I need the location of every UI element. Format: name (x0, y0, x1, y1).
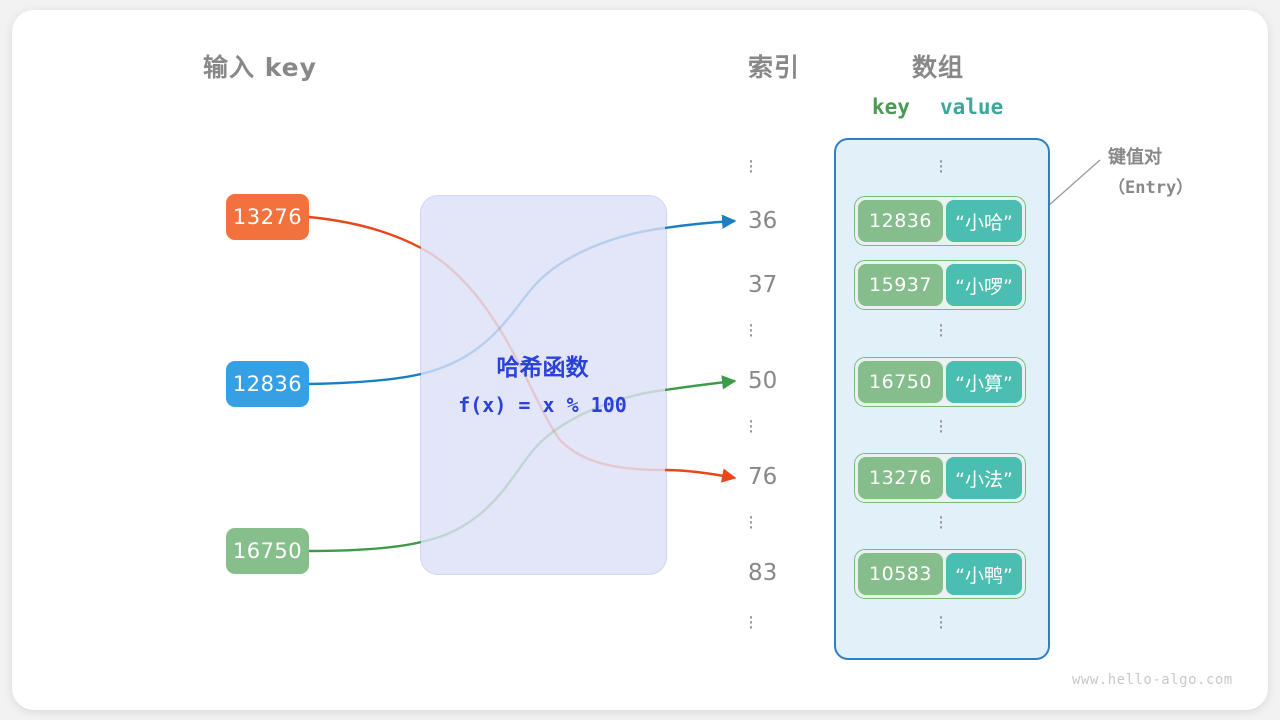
heading-input-key: 输入 key (203, 48, 317, 84)
index-label: 83 (748, 560, 808, 586)
watermark: www.hello-algo.com (1072, 672, 1233, 688)
entry-row: 15937 “小啰” (854, 260, 1026, 310)
entry-value: “小鸭” (946, 553, 1022, 595)
annotation-line-2: （Entry） (1108, 173, 1193, 203)
entry-key: 12836 (858, 200, 943, 242)
hash-function-box (420, 195, 667, 575)
entry-row: 12836 “小哈” (854, 196, 1026, 246)
index-ellipsis: ··· (748, 614, 808, 640)
input-key-chip: 16750 (226, 528, 309, 574)
entry-row: 16750 “小算” (854, 357, 1026, 407)
diagram-canvas: 输入 key 索引 数组 key value 13276 12836 16750 (0, 0, 1280, 720)
hash-function-formula: f(x) = x % 100 (420, 393, 665, 417)
array-ellipsis: ··· (934, 616, 948, 631)
array-ellipsis: ··· (934, 516, 948, 531)
annotation-line-1: 键值对 (1108, 143, 1193, 173)
entry-key: 10583 (858, 553, 943, 595)
entry-value: “小啰” (946, 264, 1022, 306)
entry-key: 13276 (858, 457, 943, 499)
entry-key: 16750 (858, 361, 943, 403)
entry-value: “小法” (946, 457, 1022, 499)
index-label: 50 (748, 368, 808, 394)
index-label: 36 (748, 208, 808, 234)
array-ellipsis: ··· (934, 420, 948, 435)
entry-value: “小哈” (946, 200, 1022, 242)
entry-key: 15937 (858, 264, 943, 306)
array-ellipsis: ··· (934, 324, 948, 339)
subheading-key: key (872, 95, 910, 119)
array-ellipsis: ··· (934, 160, 948, 175)
index-ellipsis: ··· (748, 158, 808, 184)
entry-annotation: 键值对 （Entry） (1108, 143, 1193, 203)
index-ellipsis: ··· (748, 514, 808, 540)
heading-index: 索引 (748, 48, 800, 84)
entry-row: 10583 “小鸭” (854, 549, 1026, 599)
index-ellipsis: ··· (748, 418, 808, 444)
input-key-chip: 12836 (226, 361, 309, 407)
entry-value: “小算” (946, 361, 1022, 403)
index-ellipsis: ··· (748, 322, 808, 348)
hash-function-title: 哈希函数 (420, 348, 665, 382)
index-label: 76 (748, 464, 808, 490)
subheading-value: value (940, 95, 1003, 119)
entry-row: 13276 “小法” (854, 453, 1026, 503)
heading-array: 数组 (912, 48, 964, 84)
index-label: 37 (748, 272, 808, 298)
input-key-chip: 13276 (226, 194, 309, 240)
